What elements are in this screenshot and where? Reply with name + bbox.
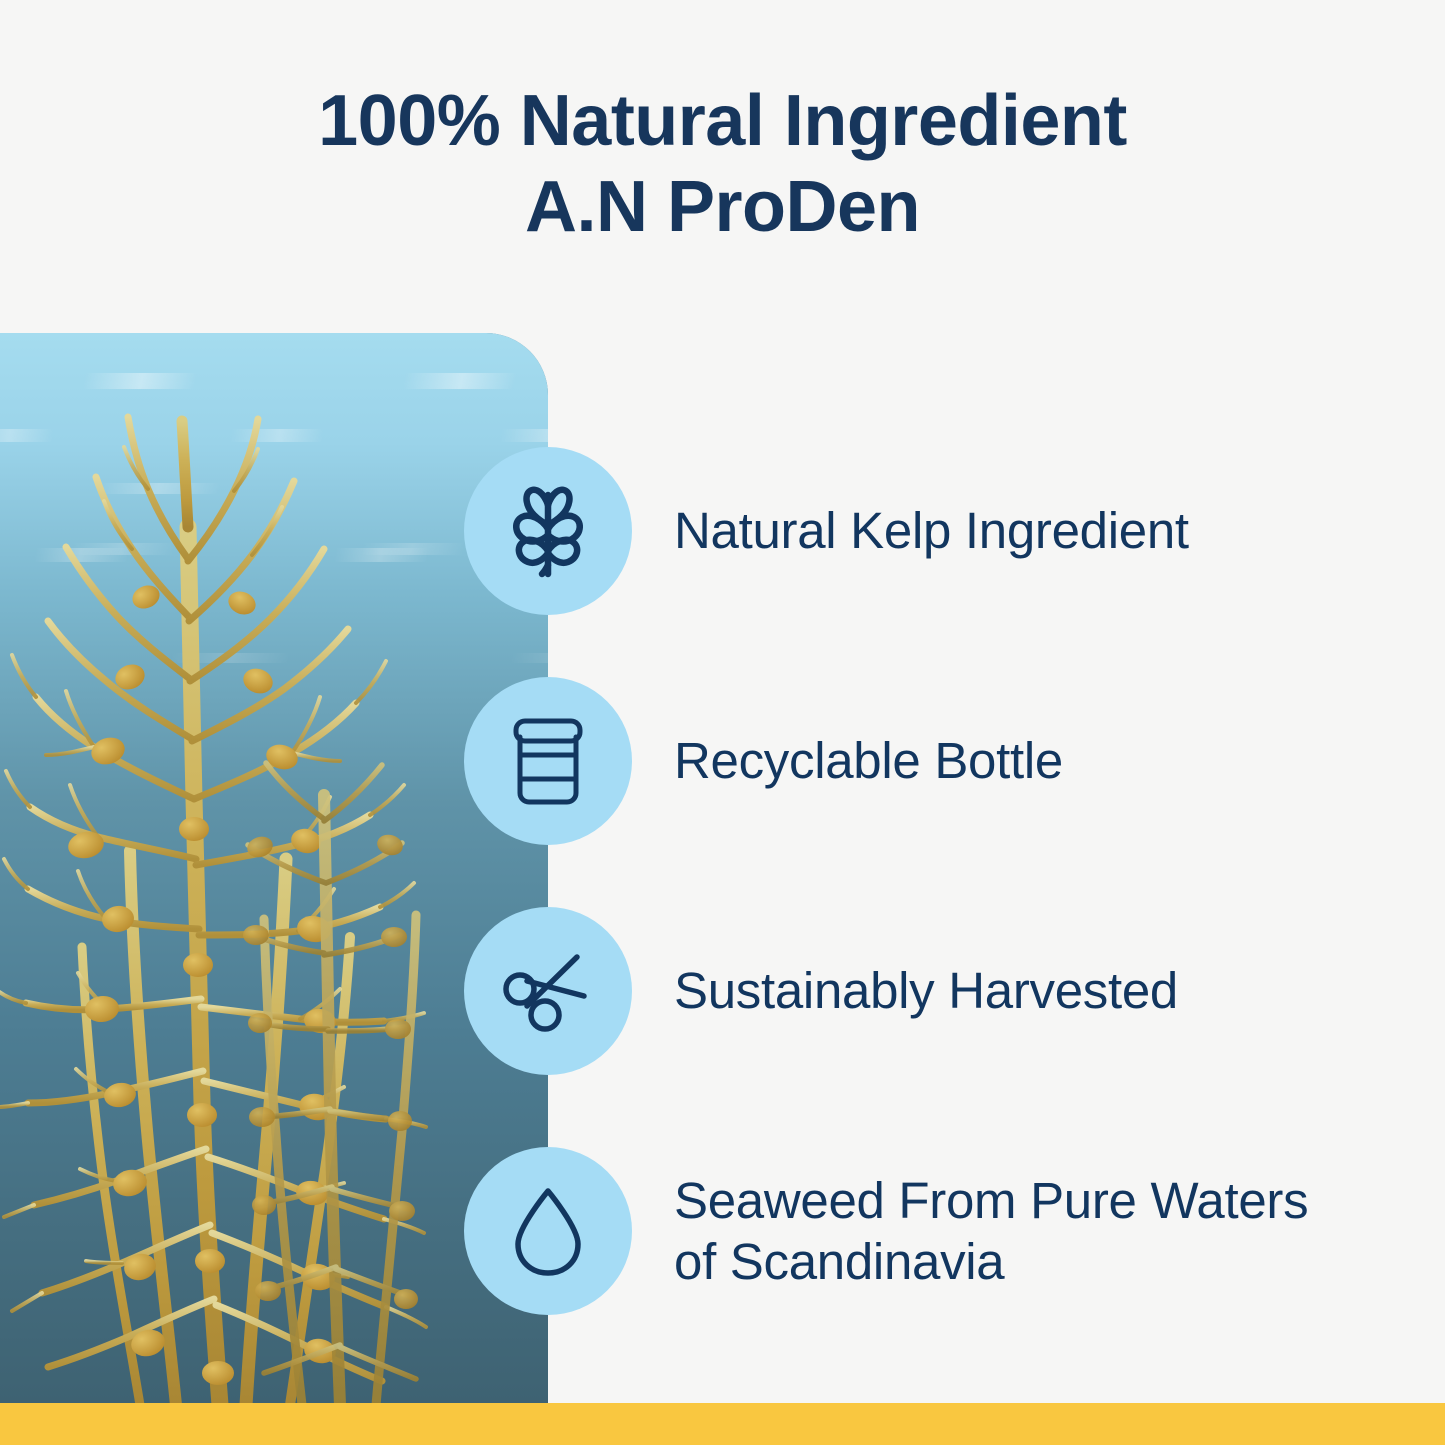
scissors-icon xyxy=(464,907,632,1075)
kelp-frond-icon xyxy=(464,447,632,615)
water-drop-icon xyxy=(464,1147,632,1315)
feature-row-sustainably-harvested[interactable]: Sustainably Harvested xyxy=(464,907,1178,1075)
feature-list: Natural Kelp Ingredient Recyclable Bottl… xyxy=(0,0,1445,1445)
feature-label: Natural Kelp Ingredient xyxy=(674,500,1189,561)
bottom-accent-band xyxy=(0,1403,1445,1445)
feature-label: Seaweed From Pure Waters of Scandinavia xyxy=(674,1170,1308,1292)
feature-row-seaweed-pure-waters[interactable]: Seaweed From Pure Waters of Scandinavia xyxy=(464,1147,1308,1315)
feature-label: Sustainably Harvested xyxy=(674,960,1178,1021)
feature-row-natural-kelp-ingredient[interactable]: Natural Kelp Ingredient xyxy=(464,447,1189,615)
feature-label: Recyclable Bottle xyxy=(674,730,1063,791)
feature-row-recyclable-bottle[interactable]: Recyclable Bottle xyxy=(464,677,1063,845)
jar-bottle-icon xyxy=(464,677,632,845)
